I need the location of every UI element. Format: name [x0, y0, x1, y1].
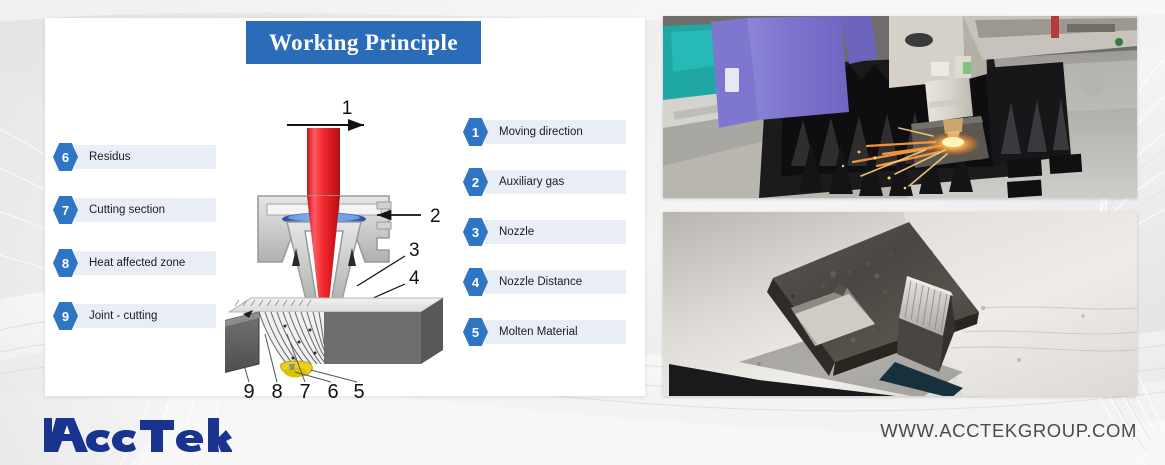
diagram-bottom-number-9: 9 [243, 381, 254, 398]
legend-item-7[interactable]: 7 Cutting section [53, 196, 216, 224]
laser-head-schematic: 1 [225, 98, 470, 398]
legend-item-1[interactable]: 1 Moving direction [463, 118, 626, 146]
legend-item-2[interactable]: 2 Auxiliary gas [463, 168, 626, 196]
laser-cutting-principle-diagram: 1 [225, 98, 470, 398]
legend-item-9[interactable]: 9 Joint - cutting [53, 302, 216, 330]
acctek-logo-mark-icon [42, 414, 232, 456]
working-principle-panel: Working Principle 6 Residus 7 Cutting se… [45, 18, 645, 396]
legend-item-label: Heat affected zone [75, 251, 216, 275]
diagram-bottom-number-5: 5 [353, 381, 364, 398]
legend-item-5[interactable]: 5 Molten Material [463, 318, 626, 346]
legend-list-left: 6 Residus 7 Cutting section 8 Heat affec… [53, 143, 216, 330]
legend-item-label: Residus [75, 145, 216, 169]
cut-part-illustration [663, 212, 1137, 396]
acctek-logo[interactable] [42, 414, 232, 456]
diagram-callout-4-text: 4 [409, 268, 420, 289]
legend-item-label: Moving direction [485, 120, 626, 144]
legend-item-label: Cutting section [75, 198, 216, 222]
panel-title-banner: Working Principle [246, 21, 481, 64]
website-url: WWW.ACCTEKGROUP.COM [880, 420, 1137, 442]
laser-machine-illustration [663, 16, 1137, 198]
legend-item-4[interactable]: 4 Nozzle Distance [463, 268, 626, 296]
legend-item-3[interactable]: 3 Nozzle [463, 218, 626, 246]
legend-item-6[interactable]: 6 Residus [53, 143, 216, 171]
page-title: Working Principle [269, 30, 458, 56]
legend-item-label: Nozzle Distance [485, 270, 626, 294]
workpiece-plate [225, 298, 443, 378]
legend-item-label: Nozzle [485, 220, 626, 244]
legend-item-8[interactable]: 8 Heat affected zone [53, 249, 216, 277]
legend-item-label: Joint - cutting [75, 304, 216, 328]
diagram-callout-1-text: 1 [342, 98, 353, 119]
photo-laser-cutting-machine [663, 16, 1137, 198]
photo-cut-steel-plate [663, 212, 1137, 396]
diagram-callout-2-text: 2 [430, 206, 441, 227]
legend-list-right: 1 Moving direction 2 Auxiliary gas 3 Noz… [463, 118, 626, 346]
legend-item-label: Molten Material [485, 320, 626, 344]
diagram-bottom-number-6: 6 [327, 381, 338, 398]
diagram-callout-3-text: 3 [409, 240, 420, 261]
diagram-bottom-number-7: 7 [299, 381, 310, 398]
legend-item-label: Auxiliary gas [485, 170, 626, 194]
diagram-bottom-number-8: 8 [271, 381, 282, 398]
